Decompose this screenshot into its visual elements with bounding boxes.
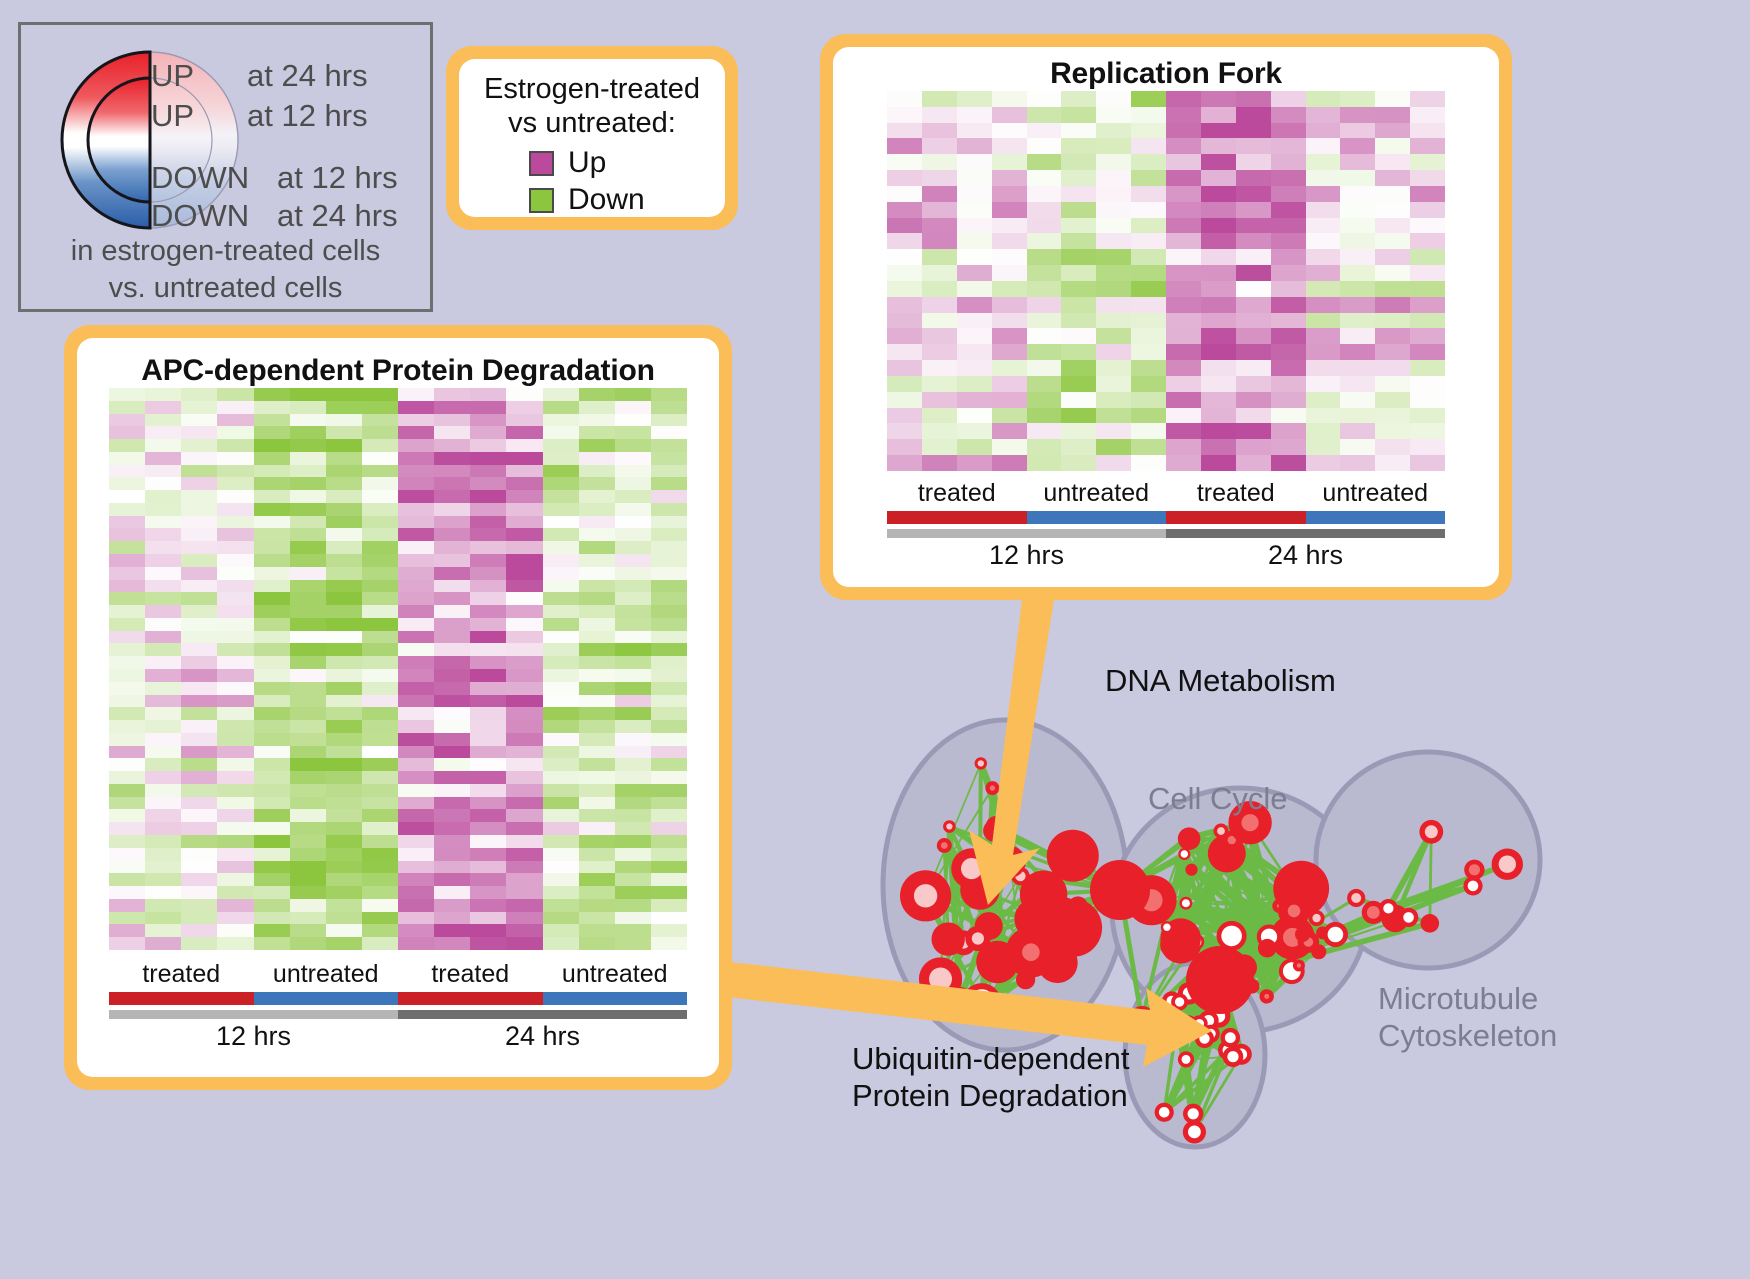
network-node[interactable] xyxy=(1260,989,1274,1003)
heatmap-cell xyxy=(1027,344,1062,360)
heatmap-cell xyxy=(543,835,579,848)
heatmap-cell xyxy=(326,873,362,886)
network-node[interactable] xyxy=(994,846,1026,878)
network-node[interactable] xyxy=(1223,1046,1244,1067)
network-node[interactable] xyxy=(1323,922,1348,947)
heatmap-cell xyxy=(1027,233,1062,249)
heatmap-cell xyxy=(217,758,253,771)
heatmap-cell xyxy=(506,388,542,401)
heatmap-cell xyxy=(145,758,181,771)
heatmap-cell xyxy=(181,414,217,427)
heatmap-cell xyxy=(362,695,398,708)
heatmap-cell xyxy=(1340,186,1375,202)
network-node[interactable] xyxy=(1492,849,1523,880)
network-node[interactable] xyxy=(1463,876,1482,895)
network-node[interactable] xyxy=(976,1005,989,1018)
heatmap-cell xyxy=(398,528,434,541)
heatmap-cell xyxy=(579,656,615,669)
heatmap-cell xyxy=(579,631,615,644)
network-node[interactable] xyxy=(943,820,956,833)
panel-title-replication-fork: Replication Fork xyxy=(833,47,1499,91)
heatmap-cell xyxy=(290,490,326,503)
heatmap-cell xyxy=(1410,313,1445,329)
heatmap-cell xyxy=(1096,313,1131,329)
heatmap-cell xyxy=(181,899,217,912)
heatmap-cell xyxy=(957,360,992,376)
heatmap-cell xyxy=(254,567,290,580)
heatmap-cell xyxy=(1061,328,1096,344)
network-node[interactable] xyxy=(1293,960,1305,972)
heatmap-cell xyxy=(615,465,651,478)
heatmap-cell xyxy=(1306,344,1341,360)
heatmap-cell xyxy=(887,439,922,455)
network-node[interactable] xyxy=(1347,889,1365,907)
heatmap-cell xyxy=(1375,138,1410,154)
heatmap-cell xyxy=(398,873,434,886)
heatmap-cell xyxy=(1027,376,1062,392)
heatmap-cell xyxy=(434,682,470,695)
heatmap-cell xyxy=(1201,439,1236,455)
heatmap-cell xyxy=(398,707,434,720)
heatmap-cell xyxy=(615,682,651,695)
network-node[interactable] xyxy=(947,987,974,1014)
group-label-untreated-24: untreated xyxy=(1306,479,1446,508)
heatmap-cell xyxy=(1166,313,1201,329)
heatmap-cell xyxy=(470,541,506,554)
heatmap-cell xyxy=(651,592,687,605)
heatmap-cell xyxy=(579,707,615,720)
heatmap-cell xyxy=(326,746,362,759)
heatmap-cell xyxy=(579,912,615,925)
heatmap-cell xyxy=(1271,392,1306,408)
heatmap-cell xyxy=(1375,218,1410,234)
panel-replication-fork: Replication Fork treated untreated treat… xyxy=(820,34,1512,600)
heatmap-cell xyxy=(887,455,922,471)
network-node[interactable] xyxy=(1191,1015,1208,1032)
heatmap-cell xyxy=(145,861,181,874)
heatmap-cell xyxy=(181,835,217,848)
network-node[interactable] xyxy=(1278,895,1310,927)
heatmap-cell xyxy=(579,733,615,746)
heatmap-cell xyxy=(922,281,957,297)
heatmap-cell xyxy=(290,835,326,848)
heatmap-cell xyxy=(217,477,253,490)
heatmap-cell xyxy=(434,528,470,541)
heatmap-cell xyxy=(1096,376,1131,392)
heatmap-cell xyxy=(398,937,434,950)
heatmap-cell xyxy=(398,465,434,478)
heatmap-cell xyxy=(145,439,181,452)
heatmap-cell xyxy=(615,656,651,669)
group-label-treated-24: treated xyxy=(1166,479,1306,508)
heatmap-cell xyxy=(326,695,362,708)
group-bar-treated-24 xyxy=(1166,511,1306,524)
heatmap-cell xyxy=(254,758,290,771)
heatmap-cell xyxy=(1236,281,1271,297)
heatmap-cell xyxy=(922,91,957,107)
heatmap-cell xyxy=(506,643,542,656)
heatmap-cell xyxy=(217,809,253,822)
heatmap-cell xyxy=(1306,297,1341,313)
up-swatch-icon xyxy=(529,151,554,176)
heatmap-cell xyxy=(506,797,542,810)
heatmap-cell xyxy=(543,924,579,937)
heatmap-cell xyxy=(922,313,957,329)
network-node[interactable] xyxy=(1379,899,1398,918)
heatmap-cell xyxy=(992,376,1027,392)
heatmap-cell xyxy=(362,848,398,861)
heatmap-cell xyxy=(362,899,398,912)
heatmap-cell xyxy=(1236,265,1271,281)
heatmap-cell xyxy=(887,344,922,360)
heatmap-cell xyxy=(1306,233,1341,249)
network-node[interactable] xyxy=(1309,910,1325,926)
heatmap-cell xyxy=(434,720,470,733)
heatmap-cell xyxy=(506,746,542,759)
heatmap-cell xyxy=(1131,138,1166,154)
heatmap-cell xyxy=(1201,297,1236,313)
heatmap-cell xyxy=(1410,138,1445,154)
pathway-network-graph xyxy=(790,620,1750,1279)
heatmap-cell xyxy=(957,170,992,186)
heatmap-cell xyxy=(470,861,506,874)
heatmap-cell xyxy=(109,784,145,797)
heatmap-cell xyxy=(145,822,181,835)
heatmap-cell xyxy=(217,899,253,912)
heatmap-cell xyxy=(326,592,362,605)
heatmap-cell xyxy=(254,426,290,439)
heatmap-cell xyxy=(254,541,290,554)
heatmap-cell xyxy=(145,414,181,427)
network-node[interactable] xyxy=(1047,830,1099,882)
heatmap-cell xyxy=(651,886,687,899)
network-node[interactable] xyxy=(1006,927,1057,978)
heatmap-cell xyxy=(290,580,326,593)
heatmap-cell xyxy=(254,439,290,452)
network-node[interactable] xyxy=(1161,921,1173,933)
heatmap-cell xyxy=(992,233,1027,249)
heatmap-cell xyxy=(887,265,922,281)
heatmap-cell xyxy=(470,592,506,605)
cluster-label-ubiquitin-protein-degradation: Ubiquitin-dependent Protein Degradation xyxy=(852,1040,1130,1114)
network-node[interactable] xyxy=(951,848,992,889)
heatmap-cell xyxy=(1375,344,1410,360)
heatmap-cell xyxy=(543,848,579,861)
heatmap-cell xyxy=(109,746,145,759)
network-node[interactable] xyxy=(1421,914,1440,933)
heatmap-cell xyxy=(181,924,217,937)
network-node[interactable] xyxy=(1221,1028,1241,1048)
heatmap-cell xyxy=(1410,107,1445,123)
heatmap-cell xyxy=(181,720,217,733)
heatmap-cell xyxy=(181,656,217,669)
heatmap-cell xyxy=(579,541,615,554)
heatmap-cell xyxy=(434,490,470,503)
heatmap-cell xyxy=(1166,154,1201,170)
heatmap-cell xyxy=(1236,423,1271,439)
heatmap-cell xyxy=(579,669,615,682)
heatmap-cell xyxy=(1410,439,1445,455)
heatmap-cell xyxy=(1236,233,1271,249)
heatmap-cell xyxy=(362,861,398,874)
heatmap-cell xyxy=(398,784,434,797)
heatmap-cell xyxy=(506,465,542,478)
heatmap-cell xyxy=(506,426,542,439)
heatmap-cell xyxy=(579,452,615,465)
heatmap-cell xyxy=(1096,455,1131,471)
heatmap-cell xyxy=(434,401,470,414)
heatmap-cell xyxy=(254,669,290,682)
heatmap-cell xyxy=(470,937,506,950)
network-node[interactable] xyxy=(1183,1104,1203,1124)
heatmap-cell xyxy=(579,861,615,874)
heatmap-cell xyxy=(651,528,687,541)
network-node[interactable] xyxy=(1168,1010,1187,1029)
heatmap-cell xyxy=(434,656,470,669)
heatmap-cell xyxy=(1306,123,1341,139)
heatmap-cell xyxy=(506,401,542,414)
heatmap-cell xyxy=(145,912,181,925)
network-node[interactable] xyxy=(985,781,999,795)
heatmap-cell xyxy=(1061,297,1096,313)
network-node[interactable] xyxy=(1178,1051,1194,1067)
heatmap-cell xyxy=(434,592,470,605)
heatmap-cell xyxy=(109,490,145,503)
heatmap-cell xyxy=(254,720,290,733)
heatmap-cell xyxy=(615,912,651,925)
heatmap-cell xyxy=(543,861,579,874)
heatmap-cell xyxy=(109,631,145,644)
heatmap-cell xyxy=(290,733,326,746)
heatmap-cell xyxy=(434,580,470,593)
heatmap-cell xyxy=(1410,218,1445,234)
network-node[interactable] xyxy=(1180,897,1193,910)
heatmap-cell xyxy=(887,233,922,249)
network-node[interactable] xyxy=(1399,908,1418,927)
heatmap-cell xyxy=(1061,233,1096,249)
heatmap-cell xyxy=(1061,423,1096,439)
heatmap-cell xyxy=(506,937,542,950)
heatmap-cell xyxy=(362,937,398,950)
heatmap-cell xyxy=(326,797,362,810)
heatmap-cell xyxy=(254,835,290,848)
heatmap-cell xyxy=(543,541,579,554)
network-node[interactable] xyxy=(1128,1006,1156,1034)
heatmap-cell xyxy=(217,439,253,452)
heatmap-cell xyxy=(217,733,253,746)
heatmap-cell xyxy=(217,452,253,465)
heatmap-cell xyxy=(992,249,1027,265)
heatmap-cell xyxy=(145,618,181,631)
heatmap-cell xyxy=(543,771,579,784)
heatmap-cell xyxy=(470,439,506,452)
network-node[interactable] xyxy=(965,926,990,951)
heatmap-cell xyxy=(1271,154,1306,170)
time-bar-24hrs xyxy=(398,1010,687,1019)
heatmap-cell xyxy=(1236,249,1271,265)
heatmap-cell xyxy=(1410,123,1445,139)
heatmap-cell xyxy=(326,656,362,669)
heatmap-cell xyxy=(326,401,362,414)
heatmap-cell xyxy=(217,682,253,695)
heatmap-cell xyxy=(1096,439,1131,455)
heatmap-cell xyxy=(506,618,542,631)
network-node[interactable] xyxy=(1295,927,1310,942)
heatmap-cell xyxy=(326,669,362,682)
network-node[interactable] xyxy=(932,922,965,955)
heatmap-cell xyxy=(579,490,615,503)
network-node[interactable] xyxy=(937,838,952,853)
heatmap-cell xyxy=(181,465,217,478)
heatmap-cell xyxy=(992,328,1027,344)
heatmap-cell xyxy=(109,643,145,656)
heatmap-cell xyxy=(1375,202,1410,218)
heatmap-cell xyxy=(398,797,434,810)
heatmap-cell xyxy=(398,720,434,733)
heatmap-cell xyxy=(109,592,145,605)
heatmap-cell xyxy=(922,423,957,439)
heatmap-cell xyxy=(1375,408,1410,424)
heatmap-cell xyxy=(470,580,506,593)
heatmap-cell xyxy=(1201,91,1236,107)
heatmap-cell xyxy=(1061,360,1096,376)
heatmap-cell xyxy=(326,835,362,848)
heatmap-cell xyxy=(543,656,579,669)
heatmap-cell xyxy=(434,414,470,427)
heatmap-cell xyxy=(181,797,217,810)
heatmap-cell xyxy=(434,784,470,797)
heatmap-cell xyxy=(1201,376,1236,392)
heatmap-cell xyxy=(1410,392,1445,408)
heatmap-cell xyxy=(254,618,290,631)
heatmap-cell xyxy=(543,528,579,541)
heatmap-cell xyxy=(290,401,326,414)
heatmap-cell xyxy=(543,426,579,439)
heatmap-cell xyxy=(1236,297,1271,313)
heatmap-cell xyxy=(290,746,326,759)
heatmap-cell xyxy=(1061,107,1096,123)
heatmap-cell xyxy=(1375,392,1410,408)
heatmap-cell xyxy=(181,809,217,822)
heatmap-cell xyxy=(109,873,145,886)
heatmap-cell xyxy=(1131,297,1166,313)
heatmap-cell xyxy=(1236,154,1271,170)
heatmap-cell xyxy=(254,580,290,593)
heatmap-cell xyxy=(254,516,290,529)
group-label-treated-24: treated xyxy=(398,960,543,989)
network-node[interactable] xyxy=(975,757,987,769)
heatmap-cell xyxy=(398,426,434,439)
network-node[interactable] xyxy=(1419,820,1443,844)
heatmap-cell xyxy=(1096,218,1131,234)
heatmap-cell xyxy=(470,516,506,529)
heatmap-cell xyxy=(254,401,290,414)
heatmap-cell xyxy=(543,414,579,427)
heatmap-cell xyxy=(434,452,470,465)
heatmap-cell xyxy=(398,567,434,580)
heatmap-cell xyxy=(326,605,362,618)
heatmap-cell xyxy=(1306,91,1341,107)
heatmap-cell xyxy=(579,516,615,529)
network-node[interactable] xyxy=(900,870,951,921)
heatmap-cell xyxy=(398,835,434,848)
heatmap-cell xyxy=(651,669,687,682)
heatmap-cell xyxy=(1271,233,1306,249)
heatmap-cell xyxy=(1061,170,1096,186)
heatmap-cell xyxy=(615,848,651,861)
heatmap-cell xyxy=(290,388,326,401)
network-node[interactable] xyxy=(1258,939,1277,958)
cluster-label-cell-cycle: Cell Cycle xyxy=(1148,781,1288,817)
heatmap-cell xyxy=(922,360,957,376)
heatmap-cell xyxy=(1201,281,1236,297)
heatmap-cell xyxy=(362,797,398,810)
heatmap-cell xyxy=(1410,328,1445,344)
heatmap-cell xyxy=(543,618,579,631)
network-node[interactable] xyxy=(1195,1029,1214,1048)
heatmap-cell xyxy=(1306,218,1341,234)
time-bar-24hrs xyxy=(1166,529,1445,538)
heatmap-cell xyxy=(922,186,957,202)
network-node[interactable] xyxy=(986,816,1007,837)
heatmap-cell xyxy=(362,567,398,580)
heatmap-cell xyxy=(109,848,145,861)
heatmap-cell xyxy=(543,695,579,708)
network-node[interactable] xyxy=(1185,864,1197,876)
heatmap-cell xyxy=(217,643,253,656)
heatmap-cell xyxy=(506,822,542,835)
heatmap-cell xyxy=(362,784,398,797)
heatmap-cell xyxy=(579,503,615,516)
heatmap-cell xyxy=(1061,439,1096,455)
legend-item-down: Down xyxy=(529,183,725,217)
heatmap-cell xyxy=(1201,328,1236,344)
heatmap-cell xyxy=(1340,249,1375,265)
heatmap-cell xyxy=(254,605,290,618)
heatmap-cell xyxy=(1096,281,1131,297)
network-node[interactable] xyxy=(1186,946,1254,1014)
heatmap-cell xyxy=(254,937,290,950)
network-node[interactable] xyxy=(1155,1103,1174,1122)
network-node[interactable] xyxy=(1178,827,1201,850)
heatmap-cell xyxy=(1340,233,1375,249)
heatmap-cell xyxy=(1166,265,1201,281)
heatmap-cell xyxy=(651,784,687,797)
heatmap-cell xyxy=(217,426,253,439)
heatmap-cell xyxy=(957,186,992,202)
heatmap-cell xyxy=(217,465,253,478)
heatmap-cell xyxy=(398,669,434,682)
heatmap-cell xyxy=(181,848,217,861)
network-node[interactable] xyxy=(1171,993,1188,1010)
heatmap-cell xyxy=(579,477,615,490)
heatmap-cell xyxy=(506,924,542,937)
heatmap-cell xyxy=(109,554,145,567)
heatmap-cell xyxy=(887,138,922,154)
heatmap-cell xyxy=(579,567,615,580)
heatmap-cell xyxy=(145,643,181,656)
heatmap-cell xyxy=(470,822,506,835)
heatmap-cell xyxy=(615,618,651,631)
heatmap-cell xyxy=(145,835,181,848)
heatmap-cell xyxy=(615,528,651,541)
heatmap-cell xyxy=(470,899,506,912)
heatmap-cell xyxy=(254,784,290,797)
network-node[interactable] xyxy=(1090,860,1150,920)
heatmap-cell xyxy=(651,695,687,708)
heatmap-cell xyxy=(109,886,145,899)
heatmap-cell xyxy=(1131,154,1166,170)
